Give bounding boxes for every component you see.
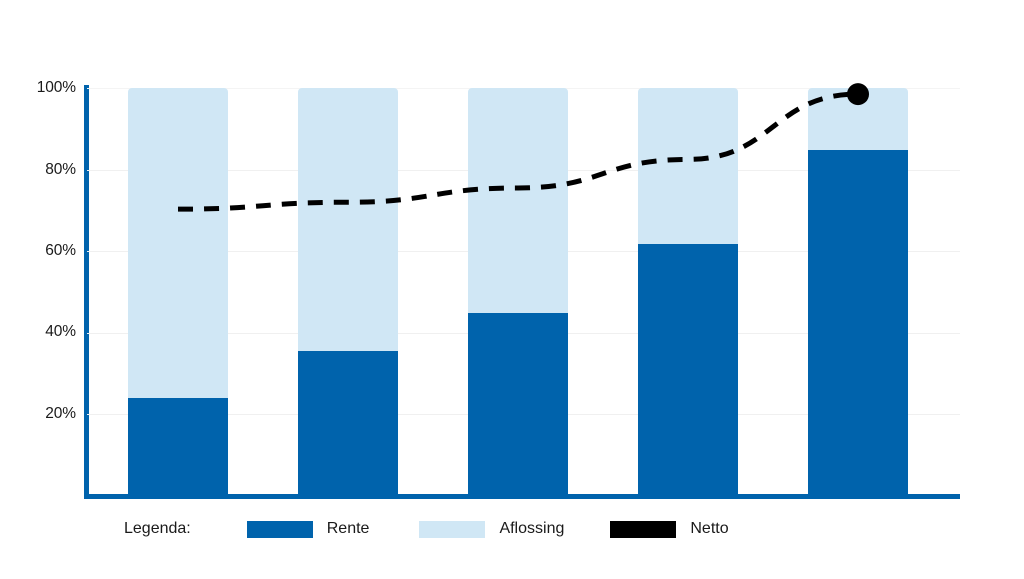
bar-segment-rente[interactable]: [298, 351, 398, 496]
y-tick-100: 100%: [37, 79, 76, 97]
bar-segment-aflossing[interactable]: [298, 88, 398, 351]
y-tick-40: 40%: [45, 323, 76, 341]
plot-area: [87, 88, 960, 496]
legend-item-netto[interactable]: Netto: [610, 520, 728, 538]
bar-group[interactable]: [298, 88, 398, 496]
bar-segment-aflossing[interactable]: [638, 88, 738, 244]
bar-segment-rente[interactable]: [468, 313, 568, 496]
legend-swatch-aflossing: [419, 521, 485, 538]
bar-group[interactable]: [128, 88, 228, 496]
bar-group[interactable]: [638, 88, 738, 496]
legend-label-netto: Netto: [690, 520, 728, 538]
y-tick-20: 20%: [45, 405, 76, 423]
legend-item-aflossing[interactable]: Aflossing: [419, 520, 564, 538]
bar-segment-aflossing[interactable]: [468, 88, 568, 313]
stacked-bar-chart: 100% 80% 60% 40% 20% Legenda: Rente Aflo…: [0, 0, 1024, 579]
chart-legend: Legenda: Rente Aflossing Netto: [0, 512, 1024, 546]
y-tick-60: 60%: [45, 242, 76, 260]
legend-swatch-netto: [610, 521, 676, 538]
bar-segment-rente[interactable]: [808, 150, 908, 496]
bar-group[interactable]: [808, 88, 908, 496]
bar-segment-aflossing[interactable]: [128, 88, 228, 398]
bar-segment-rente[interactable]: [128, 398, 228, 496]
bar-segment-aflossing[interactable]: [808, 88, 908, 150]
bar-group[interactable]: [468, 88, 568, 496]
y-axis-tick-labels: 100% 80% 60% 40% 20%: [0, 0, 76, 579]
bar-segment-rente[interactable]: [638, 244, 738, 496]
legend-item-rente[interactable]: Rente: [247, 520, 370, 538]
legend-swatch-rente: [247, 521, 313, 538]
legend-label-rente: Rente: [327, 520, 370, 538]
legend-label-aflossing: Aflossing: [499, 520, 564, 538]
y-tick-80: 80%: [45, 161, 76, 179]
legend-title: Legenda:: [124, 520, 191, 538]
